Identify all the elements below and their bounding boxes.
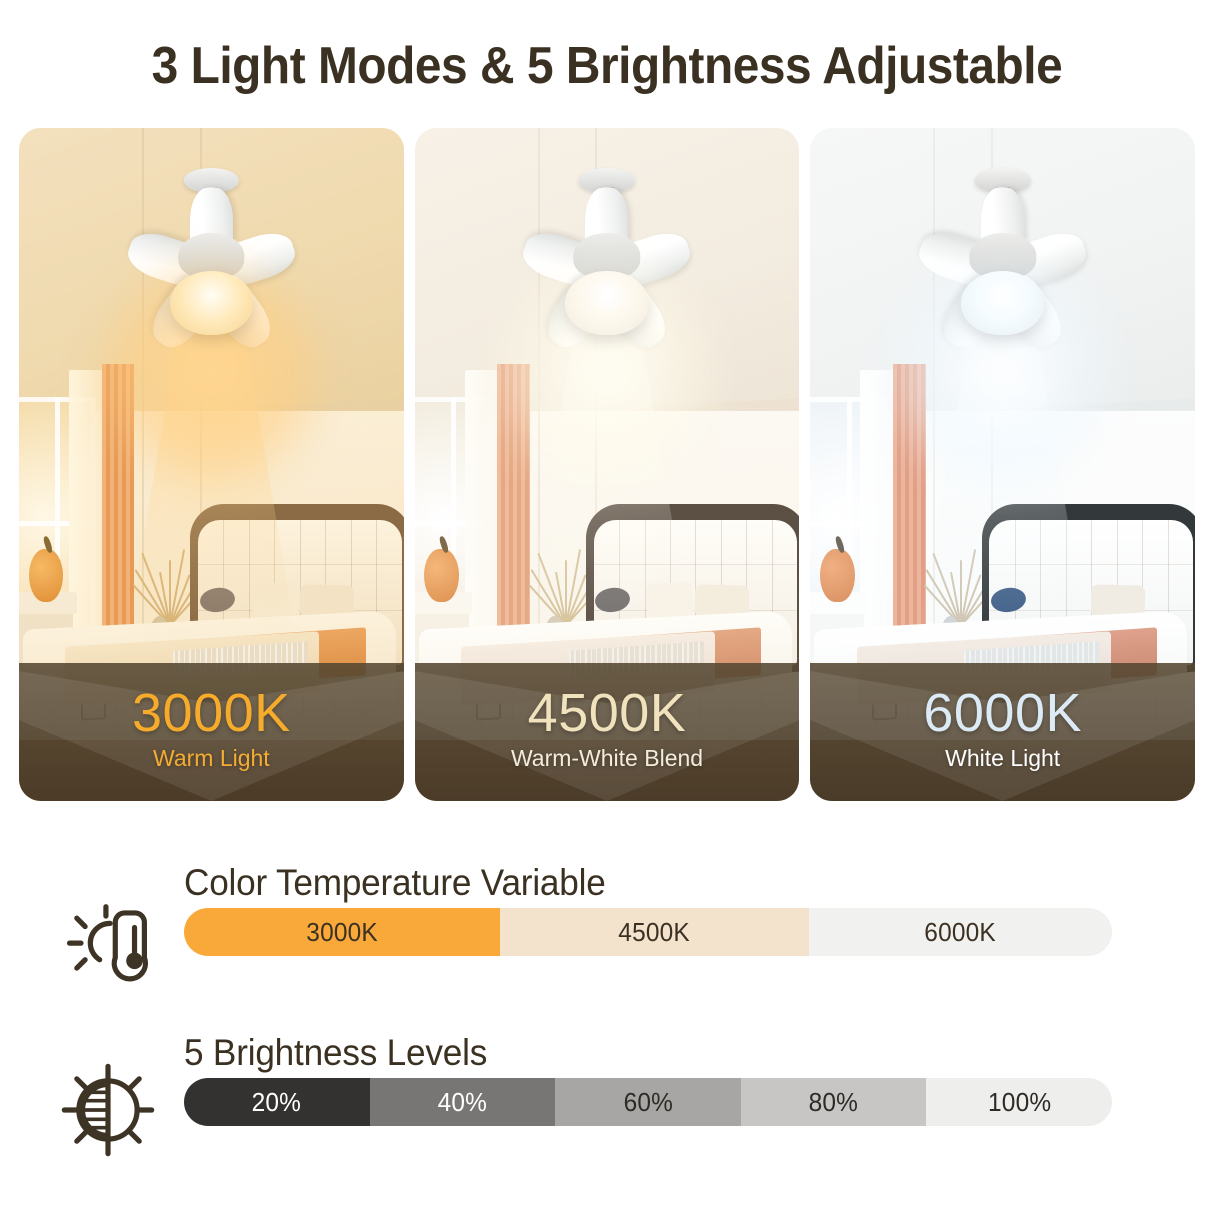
led-light-dome (961, 271, 1044, 336)
led-light-dome (565, 271, 648, 336)
color-temperature-bar[interactable]: 3000K 4500K 6000K (184, 908, 1112, 956)
brightness-bar[interactable]: 20% 40% 60% 80% 100% (184, 1078, 1112, 1126)
segment-label: 40% (438, 1087, 487, 1118)
page-title-text: 3 Light Modes & 5 Brightness Adjustable (152, 36, 1063, 96)
feature-heading-color-temperature: Color Temperature Variable (184, 862, 606, 904)
ceiling-fan (864, 168, 1141, 437)
kelvin-mode-label: White Light (945, 745, 1060, 772)
feature-color-temperature: Color Temperature Variable 3000K 4500K 6… (48, 860, 1168, 990)
segment-label: 20% (252, 1087, 301, 1118)
brightness-segment-80[interactable]: 80% (741, 1078, 927, 1126)
panel-caption: 4500K Warm-White Blend (415, 663, 800, 801)
segment-label: 3000K (306, 917, 378, 948)
page-title: 3 Light Modes & 5 Brightness Adjustable (0, 36, 1214, 96)
brightness-segment-20[interactable]: 20% (184, 1078, 370, 1126)
segment-label: 80% (809, 1087, 858, 1118)
kelvin-mode-label: Warm-White Blend (511, 745, 703, 772)
brightness-segment-60[interactable]: 60% (555, 1078, 741, 1126)
panel-caption: 3000K Warm Light (19, 663, 404, 801)
brightness-dial-icon (56, 1058, 160, 1162)
brightness-segment-100[interactable]: 100% (926, 1078, 1112, 1126)
kelvin-value: 3000K (132, 686, 291, 741)
segment-label: 100% (988, 1087, 1051, 1118)
light-mode-panel-4500k[interactable]: 4500K Warm-White Blend (415, 128, 800, 801)
sun-thermometer-icon (56, 888, 160, 992)
feature-brightness-levels: 5 Brightness Levels 20% 40% 60% 80% 100% (48, 1030, 1168, 1160)
ceiling-fan (73, 168, 350, 437)
kelvin-value: 6000K (923, 686, 1082, 741)
brightness-segment-40[interactable]: 40% (370, 1078, 556, 1126)
light-mode-panel-3000k[interactable]: 3000K Warm Light (19, 128, 404, 801)
light-mode-panels: 3000K Warm Light (19, 128, 1195, 801)
kelvin-mode-label: Warm Light (153, 745, 270, 772)
infographic-page: 3 Light Modes & 5 Brightness Adjustable (0, 0, 1214, 1214)
segment-label: 6000K (925, 917, 997, 948)
panel-caption: 6000K White Light (810, 663, 1195, 801)
ceiling-fan (469, 168, 746, 437)
segment-label: 60% (623, 1087, 672, 1118)
color-temp-segment-3000k[interactable]: 3000K (184, 908, 500, 956)
color-temp-segment-4500k[interactable]: 4500K (500, 908, 809, 956)
kelvin-value: 4500K (528, 686, 687, 741)
light-mode-panel-6000k[interactable]: 6000K White Light (810, 128, 1195, 801)
led-light-dome (170, 271, 253, 336)
feature-heading-brightness-levels: 5 Brightness Levels (184, 1032, 487, 1074)
color-temp-segment-6000k[interactable]: 6000K (809, 908, 1112, 956)
segment-label: 4500K (618, 917, 690, 948)
